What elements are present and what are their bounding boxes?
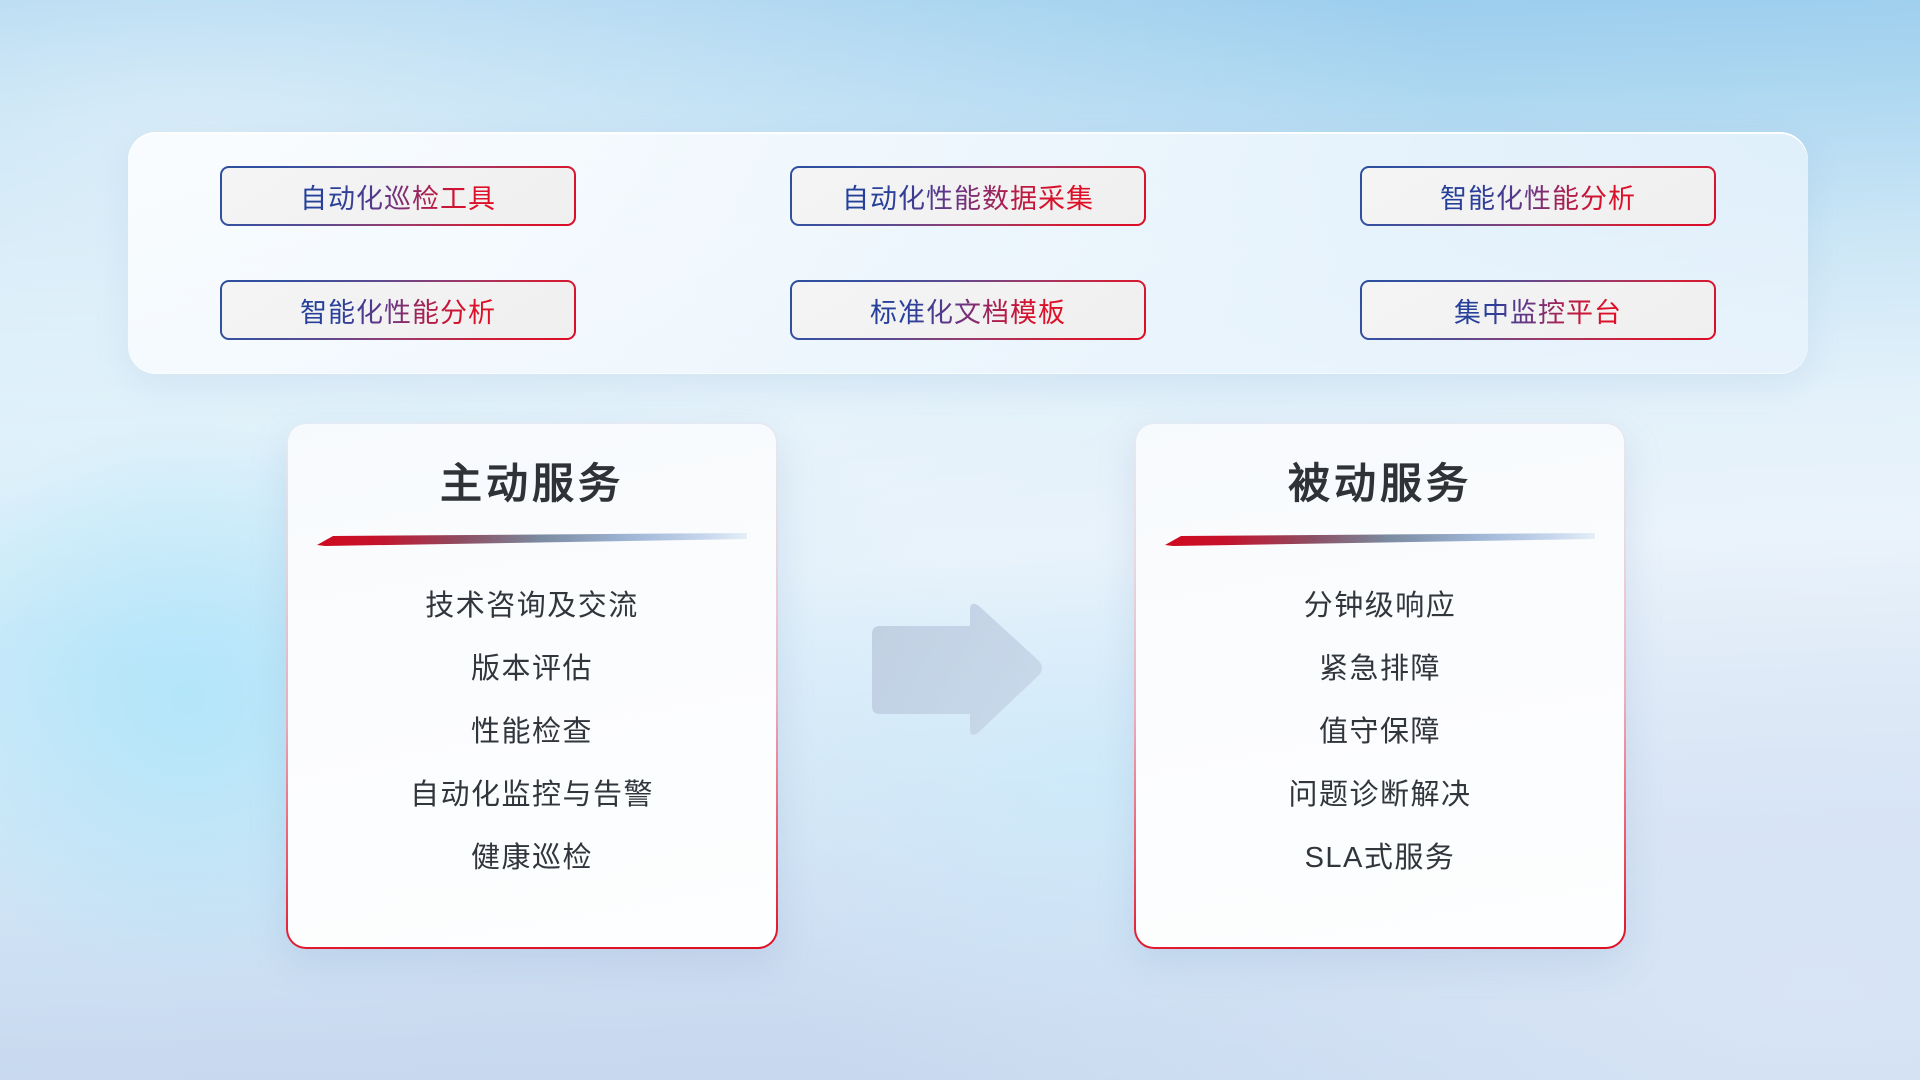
service-list-item: 分钟级响应 [1304,575,1457,638]
diagram-canvas: 自动化巡检工具 自动化性能数据采集 智能化性能分析 智能化性能分析 [0,0,1920,1080]
service-card-body: 主动服务 [288,424,776,947]
capability-pill-label: 标准化文档模板 [870,291,1066,330]
service-list-item: 紧急排障 [1319,638,1441,701]
capability-pill[interactable]: 集中监控平台 [1360,280,1716,340]
service-list-item: 问题诊断解决 [1288,764,1471,827]
service-item-list: 技术咨询及交流 版本评估 性能检查 自动化监控与告警 健康巡检 [318,575,746,890]
service-card-title: 被动服务 [1288,458,1472,511]
capability-pill-label: 自动化巡检工具 [300,177,496,216]
title-divider [317,533,747,547]
capability-pill-inner: 集中监控平台 [1362,282,1714,338]
service-card-reactive: 被动服务 [1134,422,1626,949]
service-card-proactive: 主动服务 [286,422,778,949]
arrow-right-icon [872,604,1042,735]
service-list-item: 健康巡检 [471,827,593,890]
capability-pill[interactable]: 自动化性能数据采集 [790,166,1146,226]
capability-pill-inner: 标准化文档模板 [792,282,1144,338]
service-list-item: 技术咨询及交流 [425,575,639,638]
service-list-item: 性能检查 [471,701,593,764]
service-list-item: 值守保障 [1319,701,1441,764]
service-item-list: 分钟级响应 紧急排障 值守保障 问题诊断解决 SLA式服务 [1166,575,1594,890]
capability-pill-label: 智能化性能分析 [1440,177,1636,216]
capability-pill-label: 自动化性能数据采集 [842,177,1094,216]
capability-pill[interactable]: 自动化巡检工具 [220,166,576,226]
service-card-body: 被动服务 [1136,424,1624,947]
capabilities-panel: 自动化巡检工具 自动化性能数据采集 智能化性能分析 智能化性能分析 [128,132,1808,374]
capability-pill-label: 集中监控平台 [1454,291,1622,330]
service-list-item: 自动化监控与告警 [410,764,654,827]
capability-pill-inner: 智能化性能分析 [222,282,574,338]
capability-pill-label: 智能化性能分析 [300,291,496,330]
capability-pill-inner: 智能化性能分析 [1362,168,1714,224]
service-list-item: 版本评估 [471,638,593,701]
title-divider [1165,533,1595,547]
capability-pill-inner: 自动化巡检工具 [222,168,574,224]
service-card-title: 主动服务 [440,458,624,511]
capabilities-pill-grid: 自动化巡检工具 自动化性能数据采集 智能化性能分析 智能化性能分析 [220,166,1716,340]
capability-pill[interactable]: 智能化性能分析 [220,280,576,340]
service-list-item: SLA式服务 [1305,827,1456,890]
flow-arrow [866,600,1046,740]
capability-pill[interactable]: 智能化性能分析 [1360,166,1716,226]
capability-pill-inner: 自动化性能数据采集 [792,168,1144,224]
capability-pill[interactable]: 标准化文档模板 [790,280,1146,340]
